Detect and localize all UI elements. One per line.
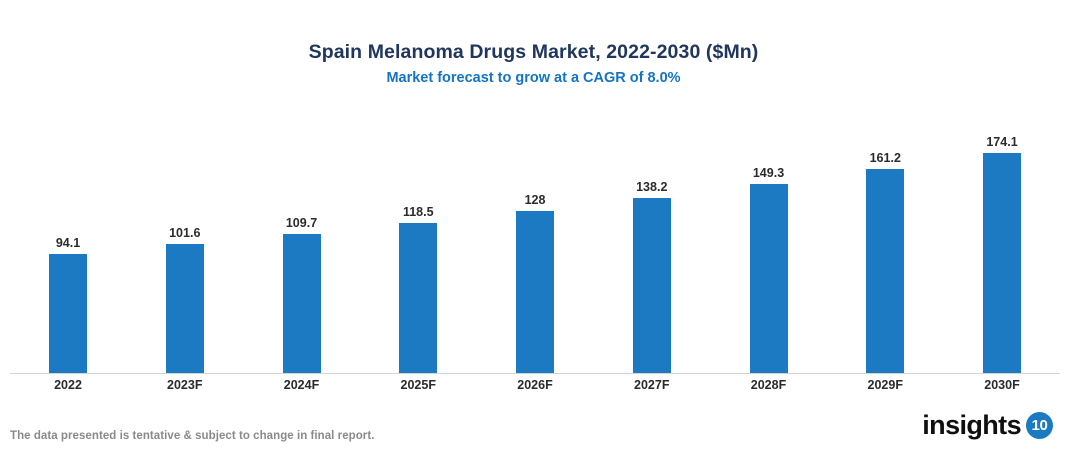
chart-container: Spain Melanoma Drugs Market, 2022-2030 (…	[0, 0, 1067, 454]
x-tick-label: 2030F	[944, 378, 1060, 392]
x-tick-label: 2028F	[711, 378, 827, 392]
bar-group: 174.1	[944, 120, 1060, 373]
bar-value-label: 161.2	[870, 151, 901, 165]
bar-group: 118.5	[360, 120, 476, 373]
bar-value-label: 138.2	[636, 180, 667, 194]
bar[interactable]	[399, 223, 437, 373]
x-tick-label: 2029F	[827, 378, 943, 392]
x-tick-label: 2027F	[594, 378, 710, 392]
x-tick-label: 2022	[10, 378, 126, 392]
bar[interactable]	[866, 169, 904, 373]
x-tick-label: 2026F	[477, 378, 593, 392]
bar-value-label: 118.5	[403, 205, 434, 219]
bar[interactable]	[750, 184, 788, 373]
logo-wordmark: insights	[922, 410, 1021, 440]
bar-value-label: 128	[525, 193, 546, 207]
bar[interactable]	[49, 254, 87, 373]
bar-group: 128	[477, 120, 593, 373]
x-axis-tick-labels: 20222023F2024F2025F2026F2027F2028F2029F2…	[10, 378, 1060, 398]
bar-group: 101.6	[127, 120, 243, 373]
bar-series: 94.1101.6109.7118.5128138.2149.3161.2174…	[10, 120, 1060, 373]
x-tick-label: 2023F	[127, 378, 243, 392]
bar-group: 149.3	[711, 120, 827, 373]
bar-value-label: 174.1	[986, 135, 1017, 149]
bar-value-label: 101.6	[169, 226, 200, 240]
bar[interactable]	[166, 244, 204, 373]
x-tick-label: 2025F	[360, 378, 476, 392]
x-tick-label: 2024F	[244, 378, 360, 392]
disclaimer-text: The data presented is tentative & subjec…	[10, 430, 374, 442]
bar-group: 94.1	[10, 120, 126, 373]
bar[interactable]	[983, 153, 1021, 373]
plot-area: 94.1101.6109.7118.5128138.2149.3161.2174…	[0, 0, 1067, 454]
bar-value-label: 149.3	[753, 166, 784, 180]
bar-group: 138.2	[594, 120, 710, 373]
logo-badge-icon: 10	[1026, 412, 1053, 439]
bar-value-label: 109.7	[286, 216, 317, 230]
bar-group: 161.2	[827, 120, 943, 373]
bar[interactable]	[633, 198, 671, 373]
bar[interactable]	[283, 234, 321, 373]
bar-value-label: 94.1	[56, 236, 80, 250]
insights10-logo: insights 10	[922, 408, 1053, 442]
bar[interactable]	[516, 211, 554, 373]
x-axis-line	[10, 373, 1060, 374]
bar-group: 109.7	[244, 120, 360, 373]
